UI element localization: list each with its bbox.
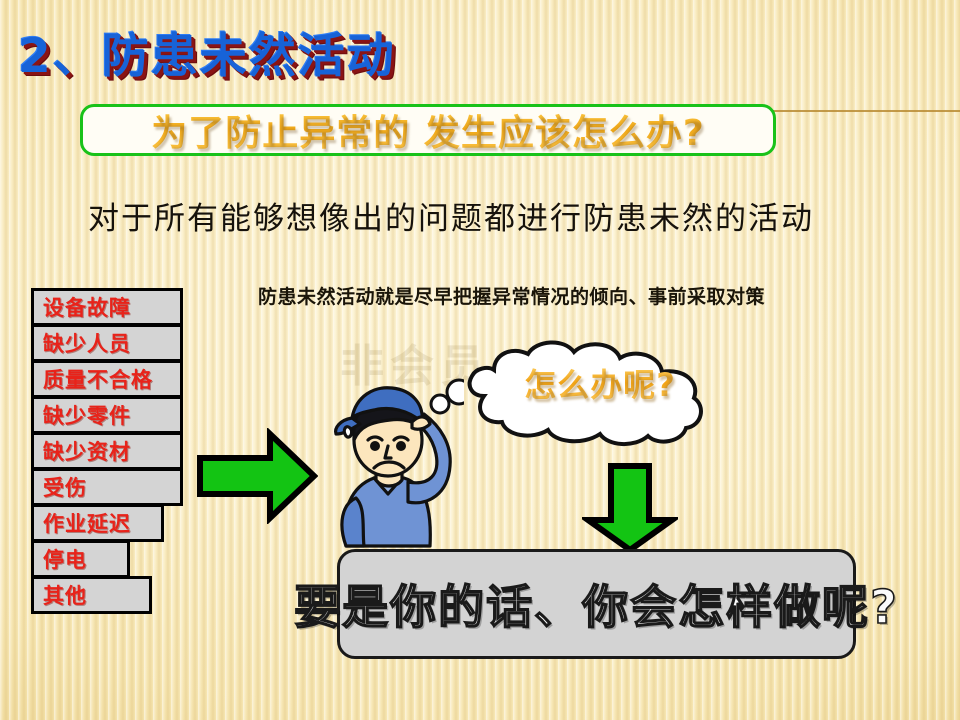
cause-list-item-label: 作业延迟 bbox=[34, 508, 131, 538]
subheadline-text: 为了防止异常的 发生应该怎么办? bbox=[151, 104, 704, 156]
subheadline-box: 为了防止异常的 发生应该怎么办? bbox=[80, 104, 776, 156]
cause-list-item[interactable]: 缺少人员 bbox=[31, 324, 183, 362]
cause-list-item[interactable]: 受伤 bbox=[31, 468, 183, 506]
cause-list-item-label: 其他 bbox=[34, 580, 87, 610]
question-panel: 要是你的话、你会怎样做呢? bbox=[337, 549, 856, 659]
cause-list-item-label: 缺少人员 bbox=[34, 328, 131, 358]
explanation-text: 防患未然活动就是尽早把握异常情况的倾向、事前采取对策 bbox=[258, 285, 848, 310]
thought-bubble-text: 怎么办呢? bbox=[510, 360, 690, 406]
cause-list-item[interactable]: 其他 bbox=[31, 576, 152, 614]
page-title: 2、防患未然活动 bbox=[18, 17, 396, 86]
cause-list-item[interactable]: 停电 bbox=[31, 540, 130, 578]
cause-list-item[interactable]: 作业延迟 bbox=[31, 504, 164, 542]
cause-list-item-label: 设备故障 bbox=[34, 292, 131, 322]
cause-list-item-label: 停电 bbox=[34, 544, 87, 574]
cause-list-item[interactable]: 缺少资材 bbox=[31, 432, 183, 470]
cause-list-item-label: 缺少零件 bbox=[34, 400, 131, 430]
statement-text: 对于所有能够想像出的问题都进行防患未然的活动 bbox=[88, 193, 888, 238]
cause-list-item[interactable]: 质量不合格 bbox=[31, 360, 183, 398]
cause-list-item[interactable]: 缺少零件 bbox=[31, 396, 183, 434]
green-right-arrow-icon bbox=[196, 428, 318, 528]
slide-canvas: 2、防患未然活动 为了防止异常的 发生应该怎么办? 对于所有能够想像出的问题都进… bbox=[0, 0, 960, 720]
cause-list-item-label: 缺少资材 bbox=[34, 436, 131, 466]
cause-list-item[interactable]: 设备故障 bbox=[31, 288, 183, 326]
cause-list-item-label: 受伤 bbox=[34, 472, 87, 502]
cause-list-item-label: 质量不合格 bbox=[34, 364, 153, 394]
cause-list: 设备故障缺少人员质量不合格缺少零件缺少资材受伤作业延迟停电其他 bbox=[31, 288, 183, 612]
green-down-arrow-icon bbox=[582, 462, 678, 558]
question-panel-text: 要是你的话、你会怎样做呢? bbox=[294, 571, 899, 637]
